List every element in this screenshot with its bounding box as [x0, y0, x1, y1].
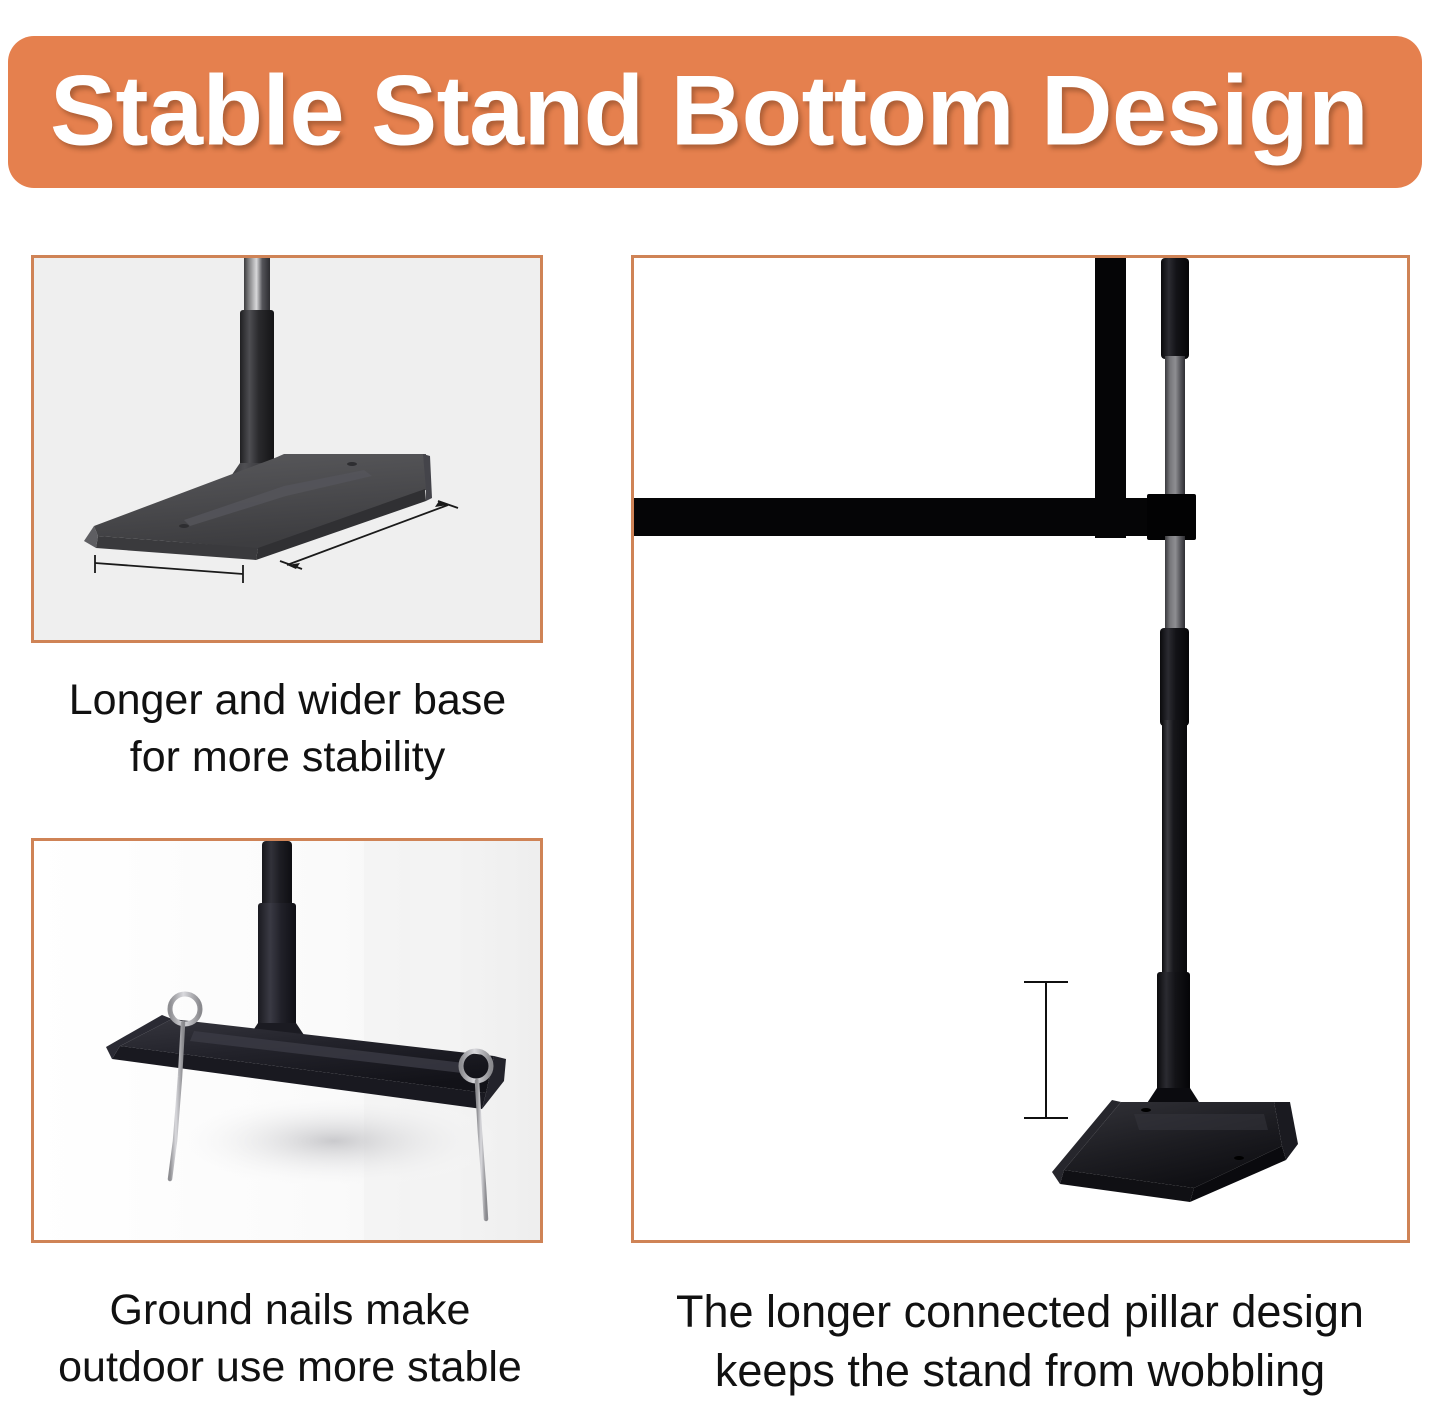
pole-black-sleeve	[240, 310, 274, 470]
base-screw-hole	[179, 524, 189, 528]
header-banner: Stable Stand Bottom Design	[8, 36, 1422, 188]
base-screw-hole	[1234, 1156, 1244, 1160]
caption-line: The longer connected pillar design	[620, 1282, 1420, 1341]
right-pole-lower-tube	[1162, 720, 1187, 978]
pole-sleeve	[258, 903, 296, 1031]
pillar-design-illustration	[634, 258, 1407, 1240]
right-pole-top-sleeve	[1161, 258, 1189, 359]
caption-pillar-design: The longer connected pillar design keeps…	[620, 1282, 1420, 1401]
caption-line: keeps the stand from wobbling	[620, 1341, 1420, 1400]
right-pole-upper-tube	[1165, 356, 1185, 501]
ground-nails-illustration	[34, 841, 540, 1240]
caption-line: outdoor use more stable	[14, 1339, 566, 1396]
right-pole-mid-sleeve	[1160, 628, 1189, 726]
base-screw-hole	[1141, 1108, 1151, 1112]
page-title: Stable Stand Bottom Design	[50, 61, 1368, 160]
caption-base-dimensions: Longer and wider base for more stability	[20, 672, 555, 786]
plate-shadow	[164, 1093, 504, 1189]
crossbar	[634, 498, 1196, 536]
dimension-line-collar-height	[1024, 982, 1068, 1118]
left-pillar	[1095, 258, 1126, 538]
pole-upper	[262, 841, 292, 909]
panel-pillar-design: 5.5in	[631, 255, 1410, 1243]
base-screw-hole	[347, 462, 357, 466]
panel-ground-nails	[31, 838, 543, 1243]
panel-base-dimensions: 16.5in 5in	[31, 255, 543, 643]
caption-line: Longer and wider base	[20, 672, 555, 729]
caption-ground-nails: Ground nails make outdoor use more stabl…	[14, 1282, 566, 1396]
crossbar-clamp	[1147, 494, 1196, 540]
base-dimensions-illustration	[34, 258, 540, 640]
pole-upper-segment	[244, 258, 270, 316]
dimension-line-width	[95, 555, 243, 583]
caption-line: Ground nails make	[14, 1282, 566, 1339]
caption-line: for more stability	[20, 729, 555, 786]
right-pole-mid-tube	[1165, 536, 1185, 633]
